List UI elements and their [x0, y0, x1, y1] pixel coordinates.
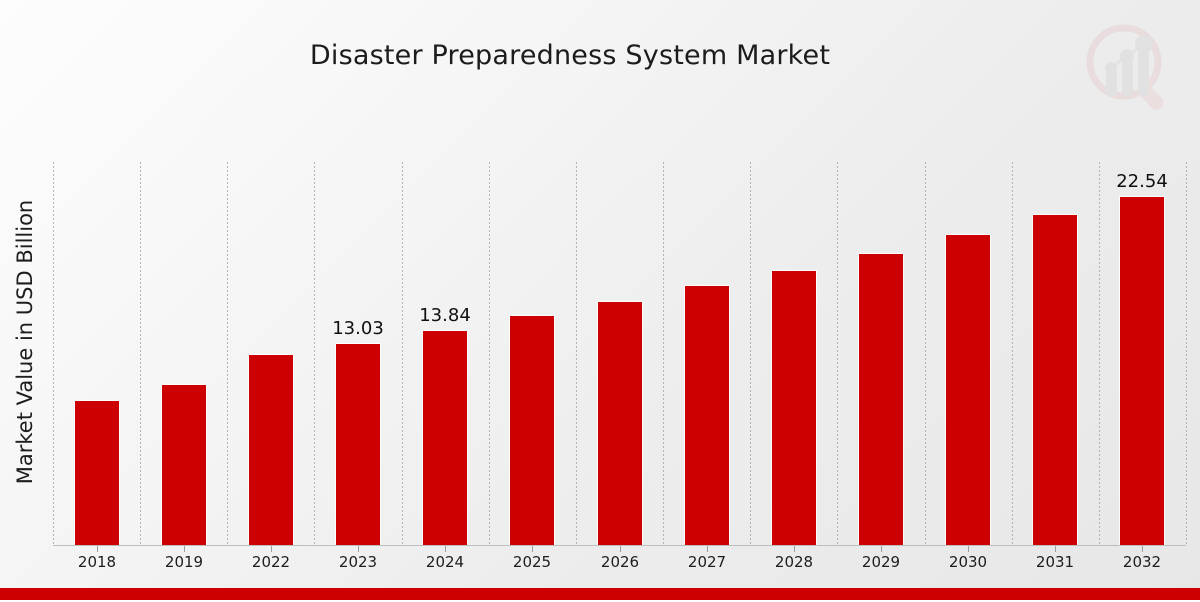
- bar-value-label-2032: 22.54: [1097, 171, 1187, 192]
- x-tick-mark-2024: [445, 546, 446, 552]
- bar-2027[interactable]: [685, 286, 729, 545]
- bar-value-label-2023: 13.03: [313, 318, 403, 339]
- gridline: [576, 162, 577, 545]
- x-tick-label-2022: 2022: [226, 553, 316, 571]
- y-axis-title: Market Value in USD Billion: [13, 82, 37, 602]
- gridline: [314, 162, 315, 545]
- x-tick-label-2029: 2029: [836, 553, 926, 571]
- bar-2030[interactable]: [946, 235, 990, 545]
- x-tick-mark-2029: [881, 546, 882, 552]
- gridline: [227, 162, 228, 545]
- x-tick-mark-2022: [271, 546, 272, 552]
- x-tick-label-2031: 2031: [1010, 553, 1100, 571]
- gridline: [402, 162, 403, 545]
- magnifier-bar-chart-logo: [1078, 18, 1178, 118]
- x-tick-label-2032: 2032: [1097, 553, 1187, 571]
- x-tick-label-2024: 2024: [400, 553, 490, 571]
- gridline: [140, 162, 141, 545]
- x-tick-label-2018: 2018: [52, 553, 142, 571]
- x-tick-mark-2023: [358, 546, 359, 552]
- gridline: [1099, 162, 1100, 545]
- x-tick-label-2030: 2030: [923, 553, 1013, 571]
- x-tick-mark-2025: [532, 546, 533, 552]
- x-tick-mark-2030: [968, 546, 969, 552]
- x-tick-label-2027: 2027: [662, 553, 752, 571]
- x-tick-label-2025: 2025: [487, 553, 577, 571]
- plot-area: [53, 162, 1186, 545]
- bar-2022[interactable]: [249, 355, 293, 545]
- bar-2028[interactable]: [772, 271, 816, 545]
- gridline: [750, 162, 751, 545]
- bar-2023[interactable]: [336, 344, 380, 545]
- bar-2029[interactable]: [859, 254, 903, 545]
- x-tick-mark-2028: [794, 546, 795, 552]
- bar-2026[interactable]: [598, 302, 642, 545]
- x-tick-label-2023: 2023: [313, 553, 403, 571]
- bar-2018[interactable]: [75, 401, 119, 545]
- bar-2025[interactable]: [510, 316, 554, 545]
- bottom-accent-band: [0, 588, 1200, 600]
- x-tick-mark-2027: [707, 546, 708, 552]
- bar-2019[interactable]: [162, 385, 206, 545]
- bar-2032[interactable]: [1120, 197, 1164, 545]
- gridline: [489, 162, 490, 545]
- gridline: [663, 162, 664, 545]
- gridline: [53, 162, 54, 545]
- x-tick-label-2026: 2026: [575, 553, 665, 571]
- gridline: [925, 162, 926, 545]
- x-tick-mark-2018: [97, 546, 98, 552]
- x-tick-mark-2032: [1142, 546, 1143, 552]
- gridline: [837, 162, 838, 545]
- x-tick-label-2019: 2019: [139, 553, 229, 571]
- bar-2031[interactable]: [1033, 215, 1077, 545]
- x-tick-mark-2031: [1055, 546, 1056, 552]
- x-tick-mark-2019: [184, 546, 185, 552]
- chart-title: Disaster Preparedness System Market: [0, 40, 1140, 71]
- gridline: [1186, 162, 1187, 545]
- bar-value-label-2024: 13.84: [400, 305, 490, 326]
- chart-container: Disaster Preparedness System Market Mark…: [0, 0, 1200, 600]
- gridline: [1012, 162, 1013, 545]
- x-tick-mark-2026: [620, 546, 621, 552]
- bar-2024[interactable]: [423, 331, 467, 545]
- x-tick-label-2028: 2028: [749, 553, 839, 571]
